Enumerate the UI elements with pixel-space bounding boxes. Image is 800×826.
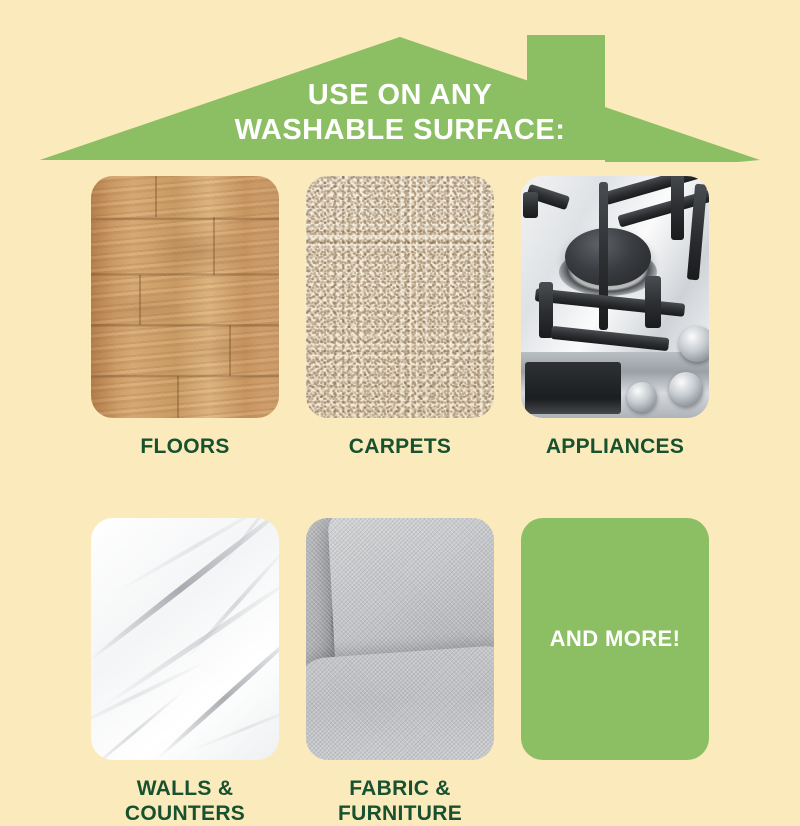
fabric-furniture-caption-line-2: FURNITURE: [338, 802, 462, 826]
surface-grid: FLOORS CARPETS: [91, 176, 709, 826]
headline-line-1: USE ON ANY: [308, 79, 492, 111]
walls-counters-caption-line-2: COUNTERS: [125, 802, 245, 826]
floors-caption: FLOORS: [140, 435, 229, 460]
surface-card-carpets[interactable]: CARPETS: [306, 176, 494, 460]
surface-card-floors[interactable]: FLOORS: [91, 176, 279, 460]
fabric-furniture-image: [306, 518, 494, 760]
fabric-furniture-caption: FABRIC & FURNITURE: [338, 777, 462, 826]
page-title: USE ON ANY WASHABLE SURFACE:: [0, 78, 800, 149]
walls-counters-caption: WALLS & COUNTERS: [125, 777, 245, 826]
surface-card-fabric-furniture[interactable]: FABRIC & FURNITURE: [306, 518, 494, 826]
appliances-image: [521, 176, 709, 418]
header-roof-banner: USE ON ANY WASHABLE SURFACE:: [0, 0, 800, 162]
surface-card-appliances[interactable]: APPLIANCES: [521, 176, 709, 460]
floors-caption-line-1: FLOORS: [140, 435, 229, 458]
carpets-caption-line-1: CARPETS: [349, 435, 451, 458]
walls-counters-caption-line-1: WALLS &: [137, 777, 234, 800]
carpets-caption: CARPETS: [349, 435, 451, 460]
and-more-tile: AND MORE!: [521, 518, 709, 760]
headline-line-2: WASHABLE SURFACE:: [0, 113, 800, 148]
surface-row-2: WALLS & COUNTERS FABRIC & FURNITURE AND …: [91, 518, 709, 826]
floors-image: [91, 176, 279, 418]
surface-card-and-more[interactable]: AND MORE!: [521, 518, 709, 826]
surface-card-walls-counters[interactable]: WALLS & COUNTERS: [91, 518, 279, 826]
appliances-caption: APPLIANCES: [546, 435, 684, 460]
carpets-image: [306, 176, 494, 418]
appliances-caption-line-1: APPLIANCES: [546, 435, 684, 458]
surface-row-1: FLOORS CARPETS: [91, 176, 709, 460]
walls-counters-image: [91, 518, 279, 760]
and-more-label: AND MORE!: [550, 626, 681, 652]
fabric-furniture-caption-line-1: FABRIC &: [349, 777, 451, 800]
